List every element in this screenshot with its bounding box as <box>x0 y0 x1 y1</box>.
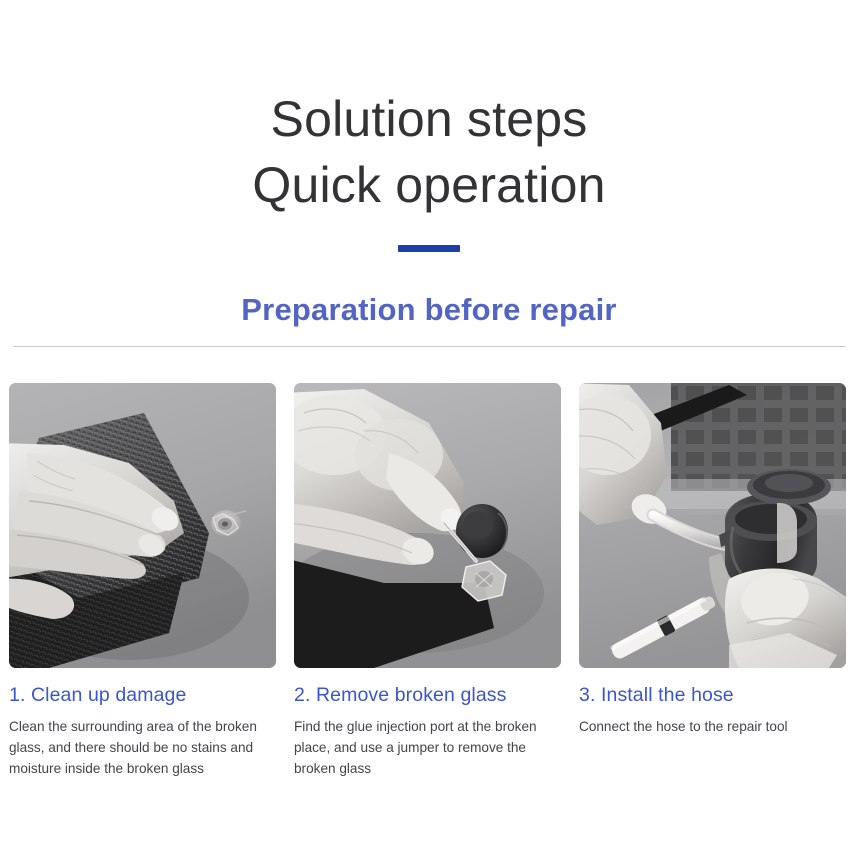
hero-header: Solution steps Quick operation <box>0 0 858 257</box>
step-1-body: Clean the surrounding area of the broken… <box>9 716 275 779</box>
section-heading: Preparation before repair <box>0 292 858 328</box>
step-card-3: 3. Install the hose Connect the hose to … <box>579 383 846 779</box>
step-2-photo <box>294 383 561 668</box>
step-card-2: 2. Remove broken glass Find the glue inj… <box>294 383 561 779</box>
instruction-page: Solution steps Quick operation Preparati… <box>0 0 858 858</box>
accent-bar <box>398 245 460 252</box>
page-title-line-2: Quick operation <box>0 152 858 218</box>
accent-bar-container <box>0 239 858 257</box>
step-card-1: 1. Clean up damage Clean the surrounding… <box>9 383 276 779</box>
page-title-line-1: Solution steps <box>0 86 858 152</box>
step-1-photo <box>9 383 276 668</box>
step-3-body: Connect the hose to the repair tool <box>579 716 845 737</box>
step-2-title: 2. Remove broken glass <box>294 684 561 707</box>
step-2-body: Find the glue injection port at the brok… <box>294 716 560 779</box>
step-1-title: 1. Clean up damage <box>9 684 276 707</box>
step-3-photo <box>579 383 846 668</box>
steps-gallery: 1. Clean up damage Clean the surrounding… <box>9 383 850 779</box>
step-3-title: 3. Install the hose <box>579 684 846 707</box>
section-divider <box>13 346 845 347</box>
